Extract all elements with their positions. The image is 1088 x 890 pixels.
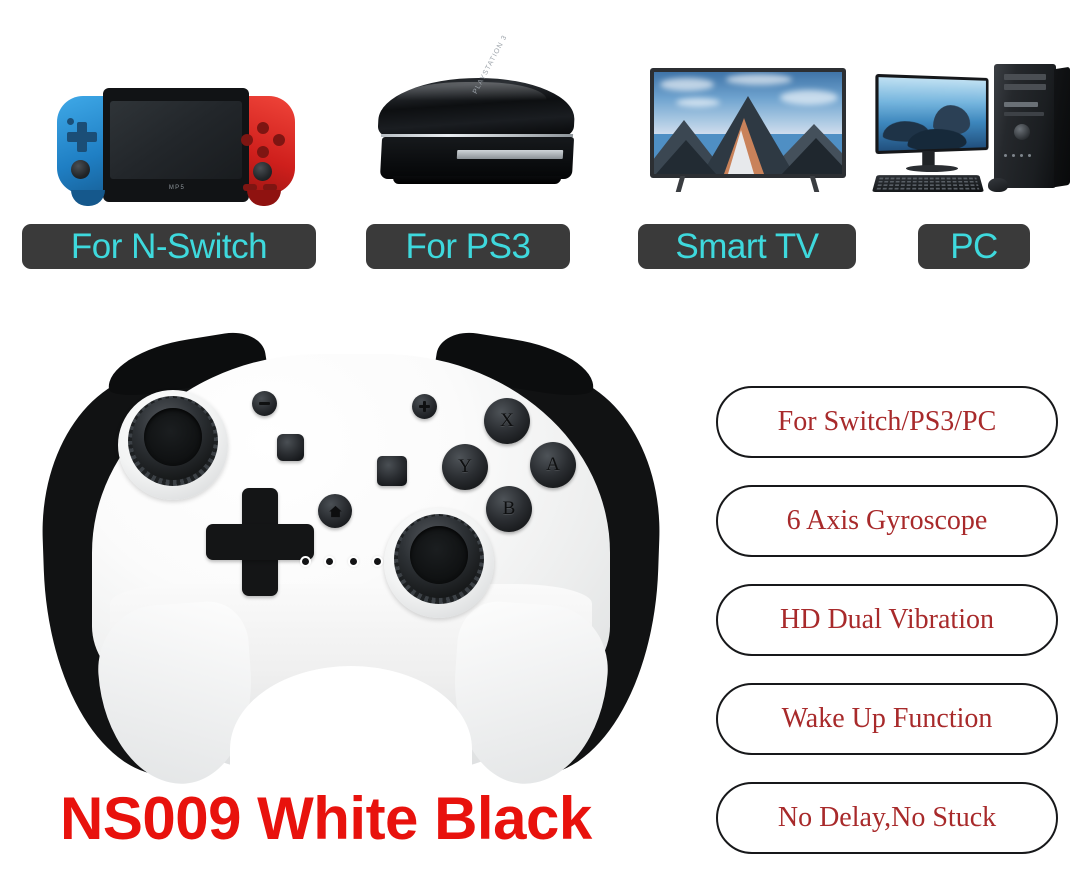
screenshot-capture-button	[277, 434, 304, 461]
ps3-console-image: PLAYSTATION 3	[371, 72, 586, 194]
product-title: NS009 White Black	[60, 786, 680, 852]
face-button-y: Y	[442, 444, 488, 490]
feature-pill-wake-up: Wake Up Function	[716, 683, 1058, 755]
home-button	[318, 494, 352, 528]
feature-pill-gyroscope: 6 Axis Gyroscope	[716, 485, 1058, 557]
minus-button	[252, 391, 277, 416]
dpad	[206, 488, 314, 596]
face-button-x: X	[484, 398, 530, 444]
handheld-console-image: MP5	[57, 88, 295, 202]
compat-label-smart-tv: Smart TV	[638, 224, 856, 269]
plus-button	[412, 394, 437, 419]
face-button-b: B	[486, 486, 532, 532]
handheld-brand-text: MP5	[117, 183, 237, 193]
feature-pill-vibration: HD Dual Vibration	[716, 584, 1058, 656]
feature-pill-compatibility: For Switch/PS3/PC	[716, 386, 1058, 458]
compat-label-n-switch: For N-Switch	[22, 224, 316, 269]
face-button-a: A	[530, 442, 576, 488]
compatibility-strip: MP5 For N-Switch PLAYSTATION 3	[0, 0, 1088, 280]
desktop-computer-image	[868, 58, 1078, 200]
feature-pill-no-delay: No Delay,No Stuck	[716, 782, 1058, 854]
game-controller-image: X Y A B	[34, 336, 668, 782]
smart-tv-image	[650, 68, 846, 196]
feature-list: For Switch/PS3/PC 6 Axis Gyroscope HD Du…	[716, 386, 1060, 856]
capture-button-square	[377, 456, 407, 486]
compat-label-pc: PC	[918, 224, 1030, 269]
compat-label-ps3: For PS3	[366, 224, 570, 269]
home-icon	[328, 504, 343, 519]
